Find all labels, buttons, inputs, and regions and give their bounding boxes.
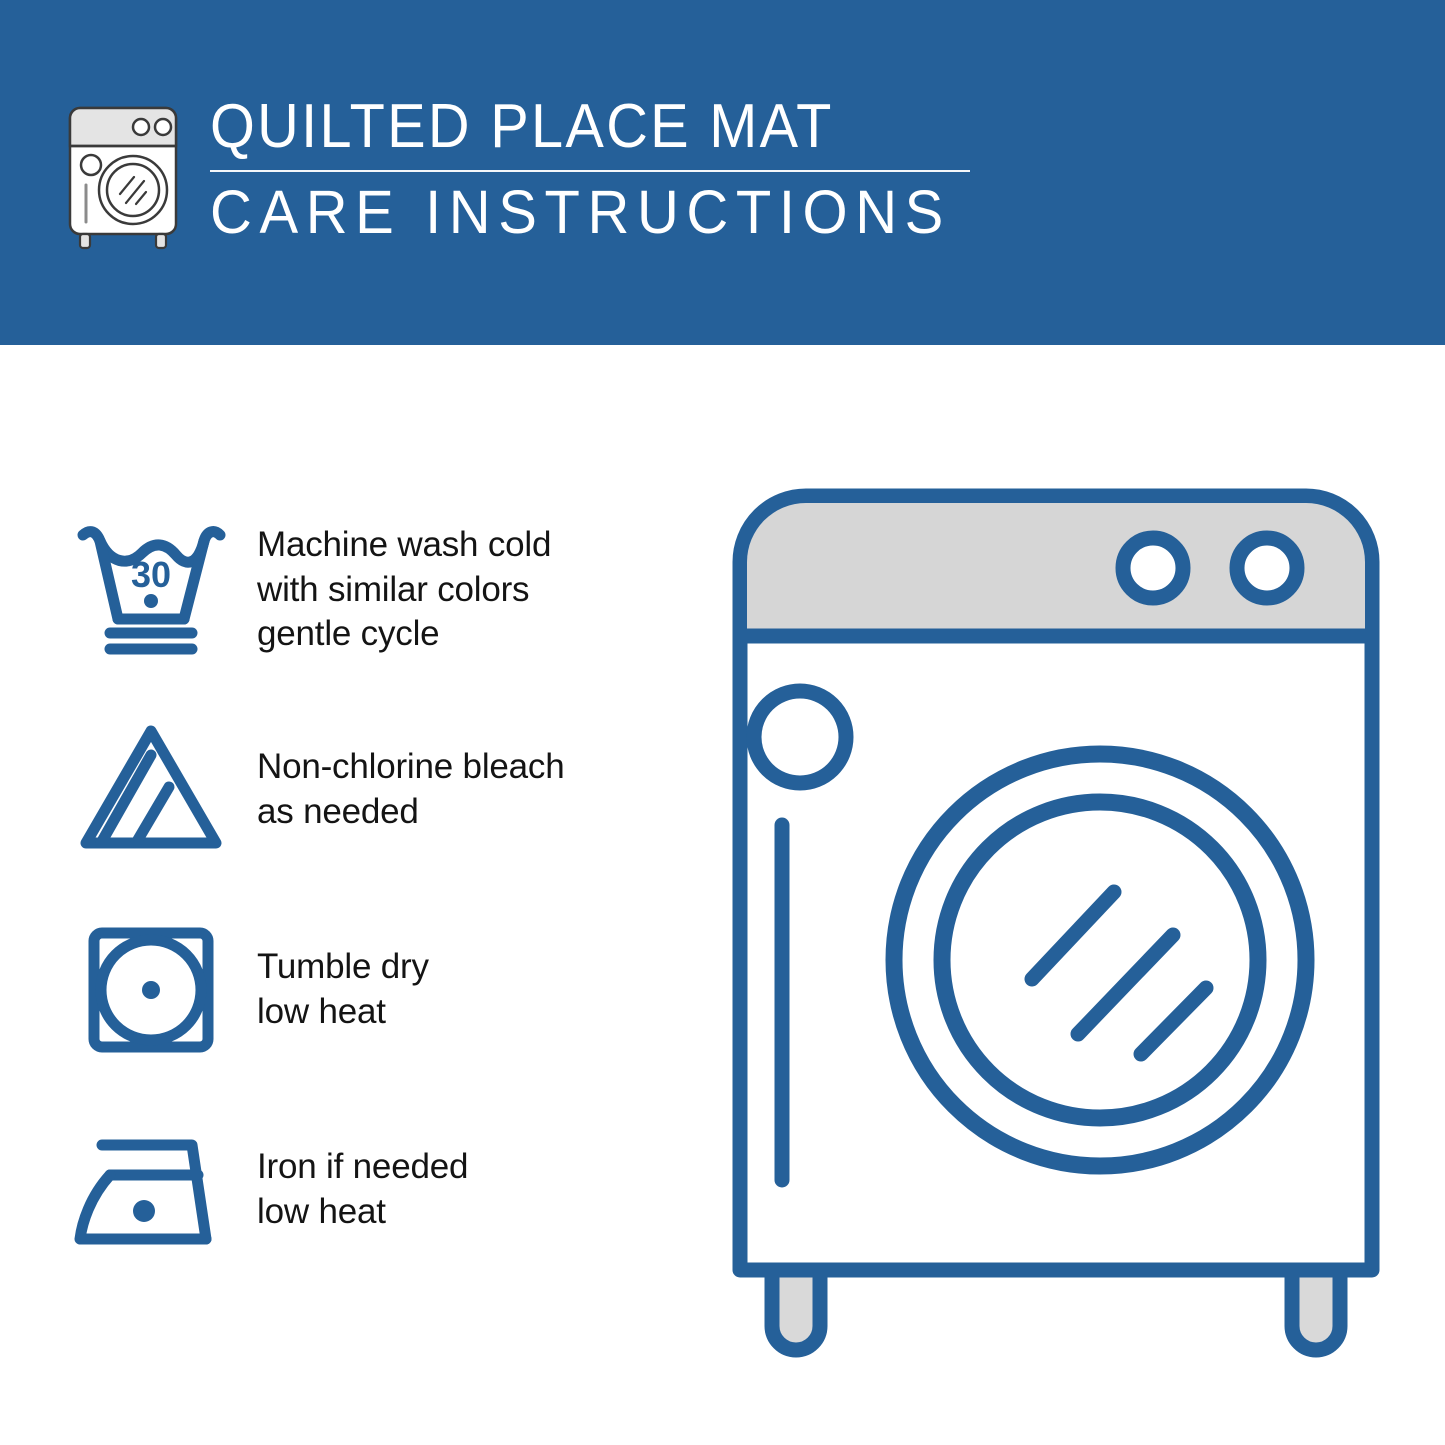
care-label-line: gentle cycle bbox=[257, 612, 706, 657]
care-label-line: Non-chlorine bleach bbox=[257, 745, 706, 790]
washing-machine-logo-icon bbox=[64, 102, 182, 252]
wash-tub-30-gentle-icon: 30 bbox=[66, 515, 241, 665]
care-row-bleach: Non-chlorine bleach as needed bbox=[66, 690, 706, 890]
door-latch bbox=[754, 691, 846, 783]
care-label-iron: Iron if needed low heat bbox=[257, 1145, 706, 1235]
page-title: QUILTED PLACE MAT bbox=[210, 96, 834, 158]
care-label-line: Tumble dry bbox=[257, 945, 706, 990]
page-subtitle: CARE INSTRUCTIONS bbox=[210, 182, 951, 243]
care-label-line: with similar colors bbox=[257, 568, 706, 613]
care-label-line: low heat bbox=[257, 990, 706, 1035]
leg-left bbox=[772, 1270, 820, 1350]
iron-low-heat-icon bbox=[66, 1115, 241, 1265]
knob-left bbox=[1123, 538, 1183, 598]
care-label-line: Iron if needed bbox=[257, 1145, 706, 1190]
care-label-line: low heat bbox=[257, 1190, 706, 1235]
care-label-line: Machine wash cold bbox=[257, 523, 706, 568]
care-instructions-page: QUILTED PLACE MAT CARE INSTRUCTIONS bbox=[0, 0, 1445, 1445]
tumble-dry-low-heat-icon bbox=[66, 915, 241, 1065]
header-band: QUILTED PLACE MAT CARE INSTRUCTIONS bbox=[0, 0, 1445, 345]
leg-right bbox=[1292, 1270, 1340, 1350]
knob-right bbox=[1237, 538, 1297, 598]
care-row-iron: Iron if needed low heat bbox=[66, 1090, 706, 1290]
wash-temperature-label: 30 bbox=[131, 554, 171, 595]
title-divider bbox=[210, 170, 970, 172]
care-label-line: as needed bbox=[257, 790, 706, 835]
non-chlorine-bleach-triangle-icon bbox=[66, 715, 241, 865]
care-row-tumble-dry: Tumble dry low heat bbox=[66, 890, 706, 1090]
drum-inner-circle bbox=[942, 802, 1258, 1118]
care-instruction-list: 30 Machine wash cold with similar colors… bbox=[66, 490, 706, 1290]
front-load-washing-machine-illustration bbox=[726, 480, 1386, 1370]
care-label-tumble-dry: Tumble dry low heat bbox=[257, 945, 706, 1035]
header-content: QUILTED PLACE MAT CARE INSTRUCTIONS bbox=[64, 96, 1385, 266]
care-label-bleach: Non-chlorine bleach as needed bbox=[257, 745, 706, 835]
care-label-machine-wash: Machine wash cold with similar colors ge… bbox=[257, 523, 706, 657]
care-row-machine-wash: 30 Machine wash cold with similar colors… bbox=[66, 490, 706, 690]
header-title-group: QUILTED PLACE MAT CARE INSTRUCTIONS bbox=[210, 96, 1385, 243]
